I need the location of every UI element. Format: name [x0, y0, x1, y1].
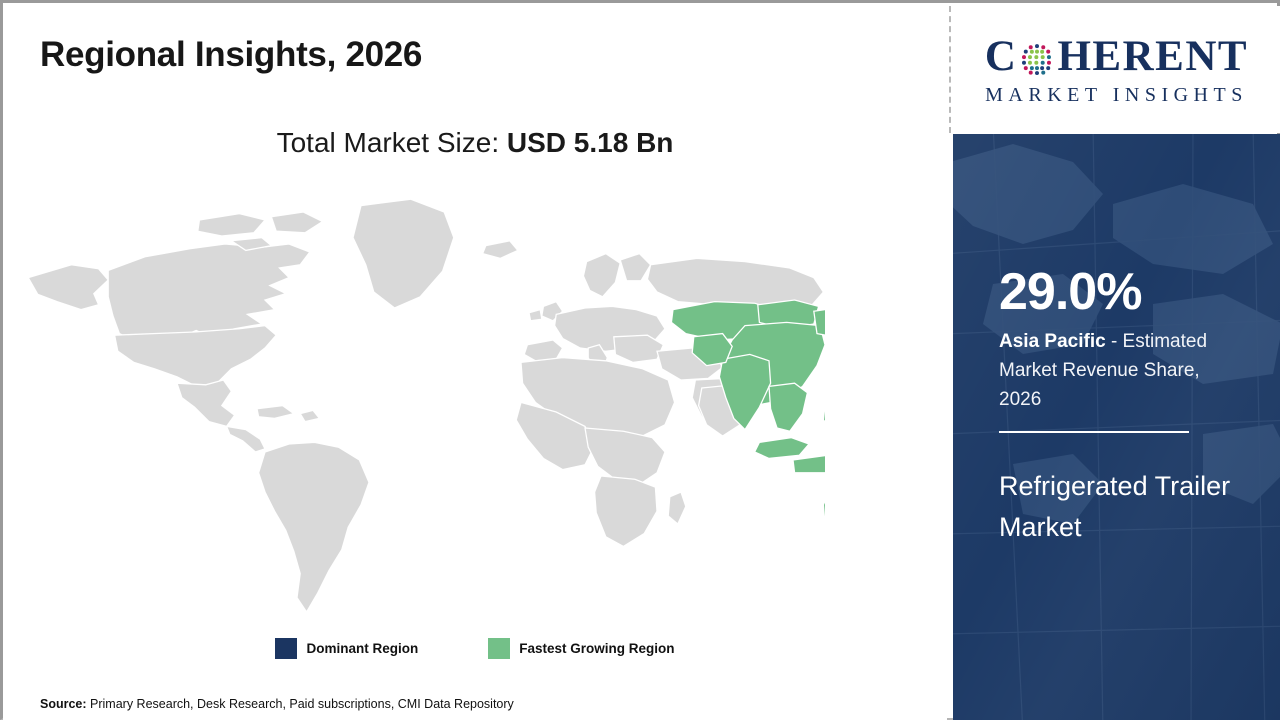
infographic-frame: Regional Insights, 2026 Total Market Siz… — [0, 0, 1280, 720]
panel-divider-rule — [999, 431, 1189, 433]
market-name: Refrigerated Trailer Market — [999, 466, 1244, 548]
map-highlight-asia-pacific — [671, 300, 825, 588]
total-market-size: Total Market Size: USD 5.18 Bn — [3, 127, 947, 159]
market-size-value: USD 5.18 Bn — [507, 127, 674, 158]
dotted-globe-icon — [1018, 40, 1056, 78]
brand-letters-herent: HERENT — [1057, 35, 1248, 78]
map-base-countries — [28, 199, 823, 612]
source-label: Source: — [40, 697, 87, 711]
brand-letter-c: C — [985, 35, 1018, 78]
brand-name-top: C — [972, 35, 1262, 78]
legend-item-dominant-region: Dominant Region — [275, 638, 418, 659]
map-legend: Dominant Region Fastest Growing Region — [3, 638, 947, 659]
page-title: Regional Insights, 2026 — [40, 35, 422, 75]
square-swatch-icon — [488, 638, 510, 659]
stat-panel: 29.0% Asia Pacific - Estimated Market Re… — [953, 134, 1280, 720]
square-swatch-icon — [275, 638, 297, 659]
market-size-label: Total Market Size: — [277, 127, 500, 158]
legend-label: Dominant Region — [306, 641, 418, 656]
source-note: Source: Primary Research, Desk Research,… — [40, 697, 514, 711]
world-map — [25, 188, 825, 628]
stat-description: Asia Pacific - Estimated Market Revenue … — [999, 328, 1231, 415]
legend-label: Fastest Growing Region — [519, 641, 674, 656]
brand-logo: C — [953, 6, 1280, 133]
stat-region: Asia Pacific — [999, 331, 1106, 352]
source-text: Primary Research, Desk Research, Paid su… — [90, 697, 514, 711]
vertical-dashed-divider — [949, 6, 951, 133]
brand-name-bottom: MARKET INSIGHTS — [972, 85, 1262, 105]
stat-value: 29.0% — [999, 266, 1141, 318]
left-content-pane: Regional Insights, 2026 Total Market Siz… — [3, 3, 947, 720]
legend-item-fastest-growing-region: Fastest Growing Region — [488, 638, 674, 659]
